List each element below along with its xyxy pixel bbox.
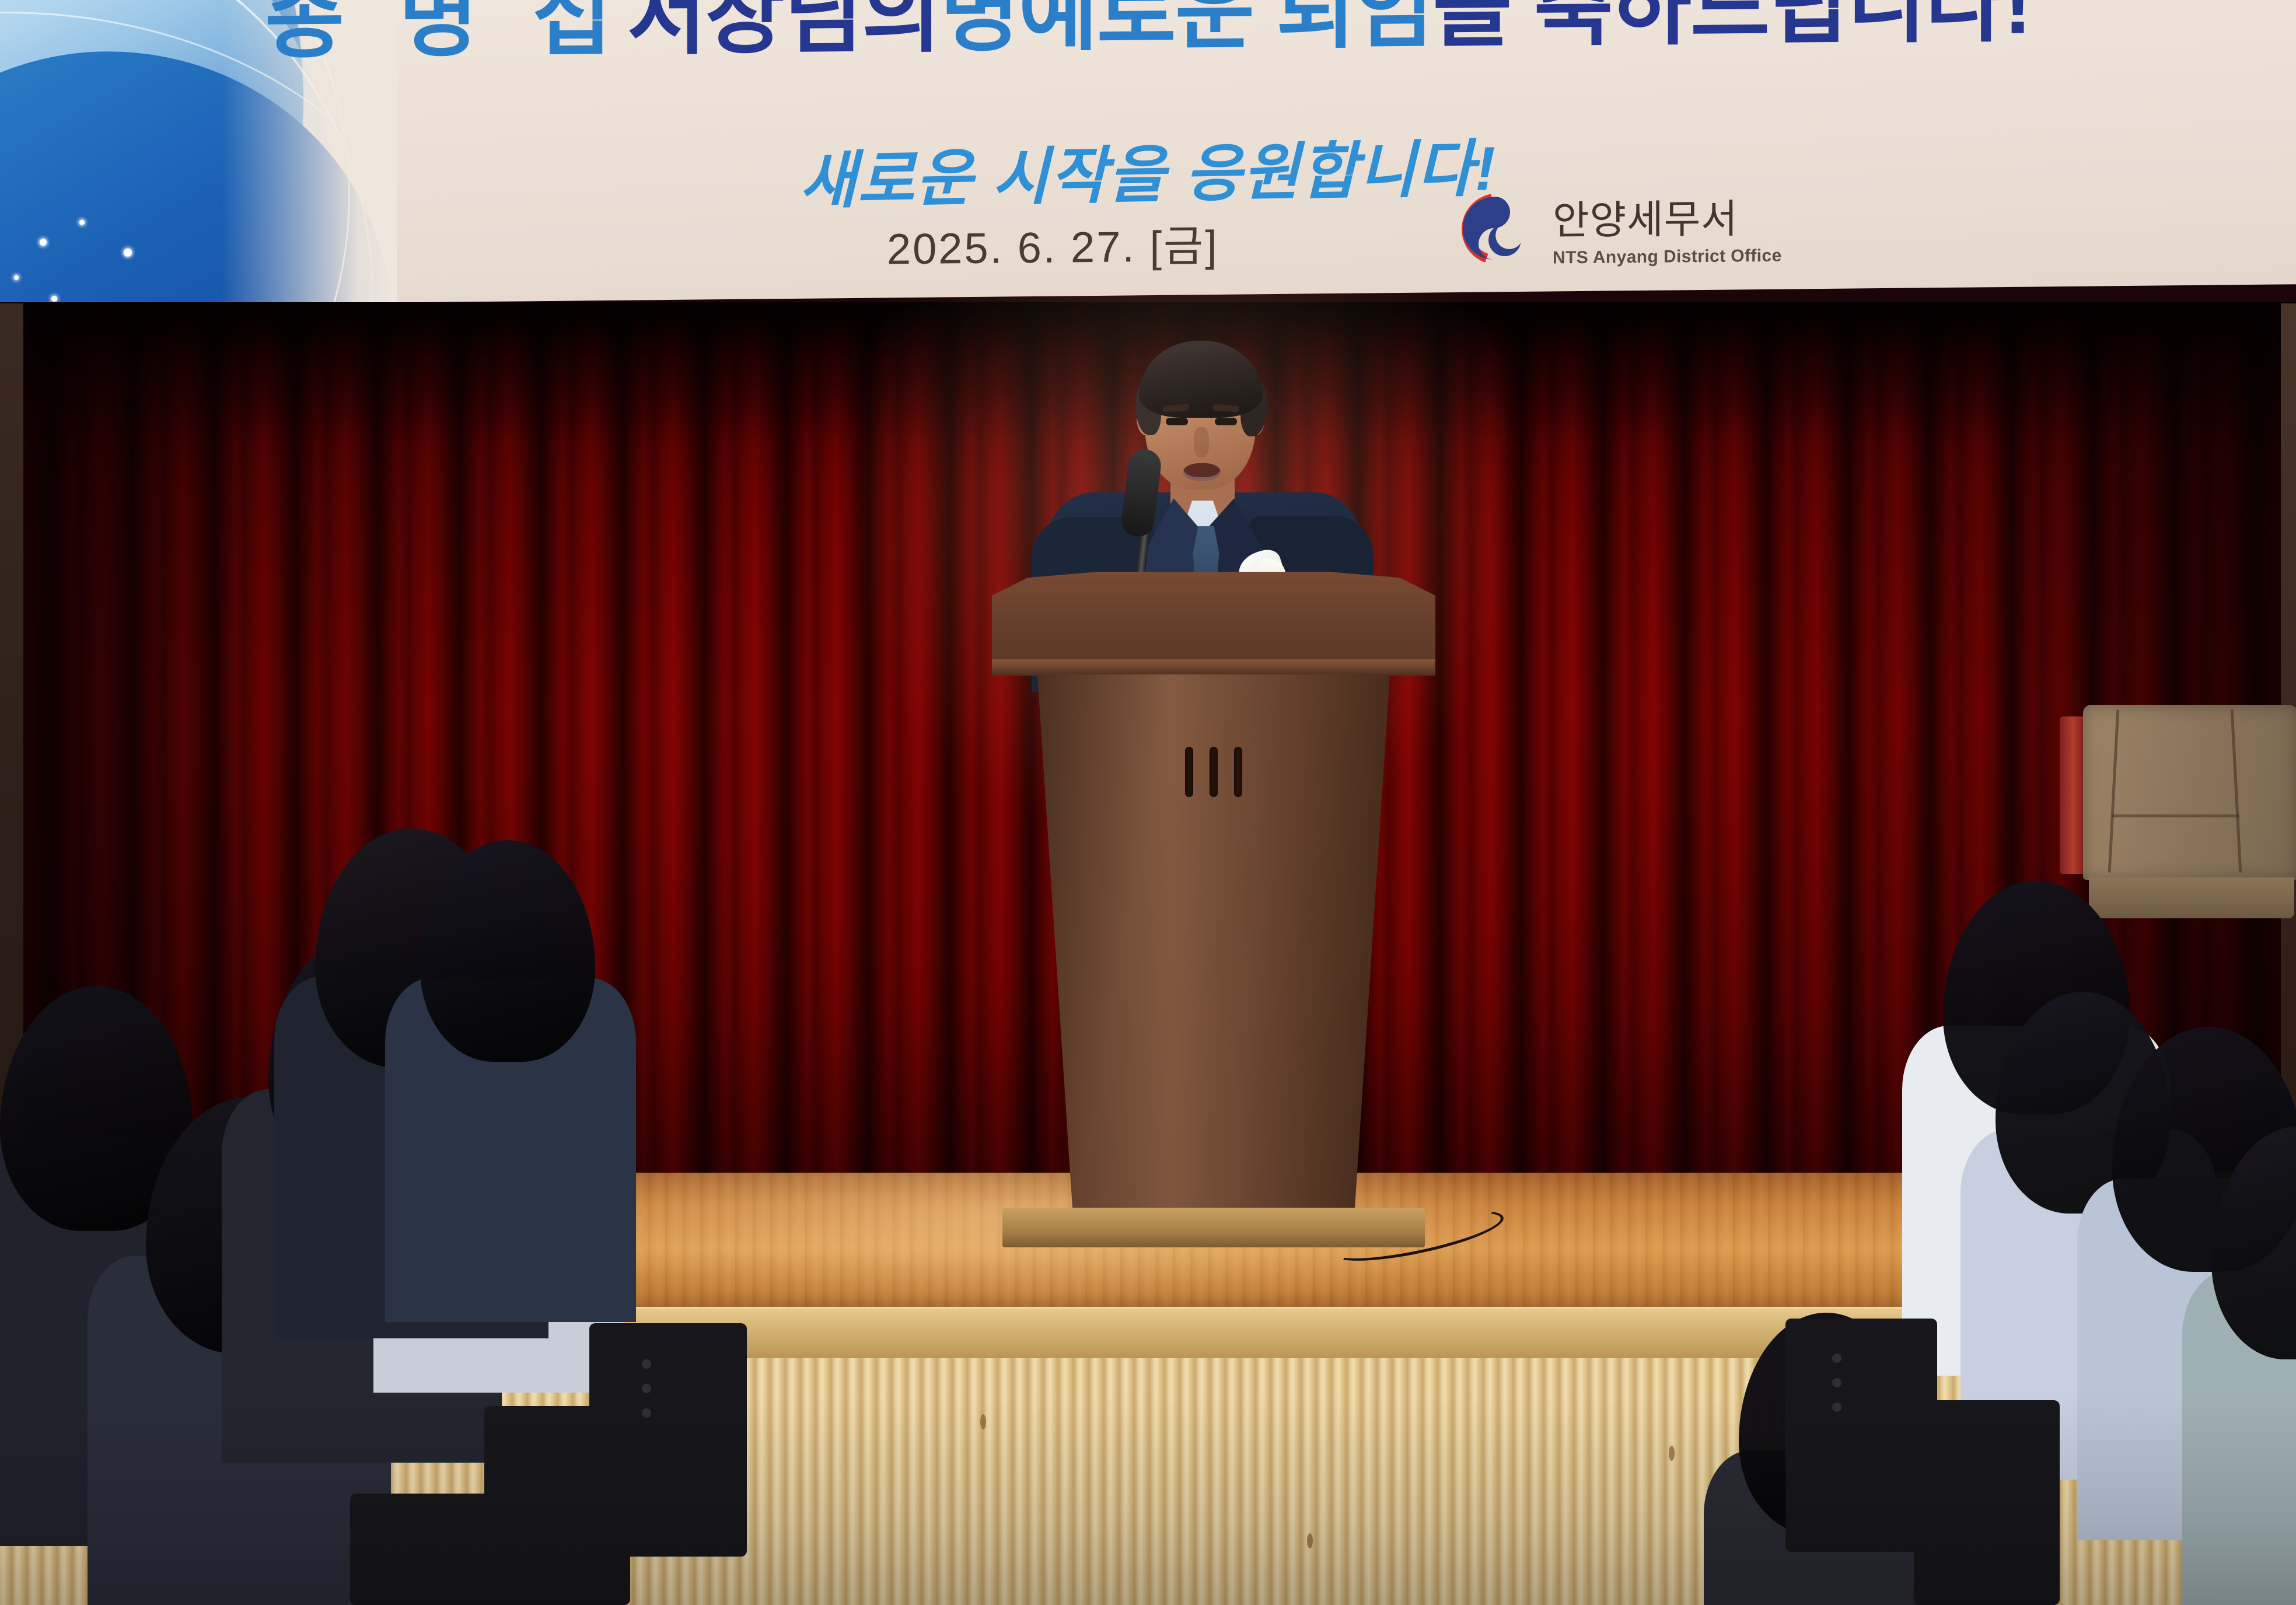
banner-title-name: 송 명 섭 [265,0,627,69]
event-banner: 송 명 섭서장님의명예로운 퇴임을 축하드립니다! 새로운 시작을 응원합니다!… [0,0,2296,306]
banner-title: 송 명 섭서장님의명예로운 퇴임을 축하드립니다! [0,0,2296,67]
podium-lectern [992,572,1435,1249]
audience-chair [1914,1400,2060,1605]
audience-chair [484,1406,630,1605]
podium-vent-slots [1185,747,1242,797]
organization-logo: 안양세무서 NTS Anyang District Office [1462,186,1782,269]
event-photo-scene: 송 명 섭서장님의명예로운 퇴임을 축하드립니다! 새로운 시작을 응원합니다!… [0,0,2296,1605]
banner-date: 2025. 6. 27. [금] [887,211,1219,277]
organization-name-en: NTS Anyang District Office [1553,246,1782,268]
banner-title-congrats: 축하드립니다! [1534,0,2031,57]
organization-name-kr: 안양세무서 [1553,186,1782,246]
speaker-person [1015,302,1389,606]
banner-title-phrase: 명예로운 퇴임 [940,0,1432,62]
banner-title-particle: 을 [1432,0,1533,57]
audience-chair [350,1494,502,1605]
taeguk-emblem-icon [1462,193,1533,264]
banner-title-honorific: 서장님의 [627,0,941,65]
